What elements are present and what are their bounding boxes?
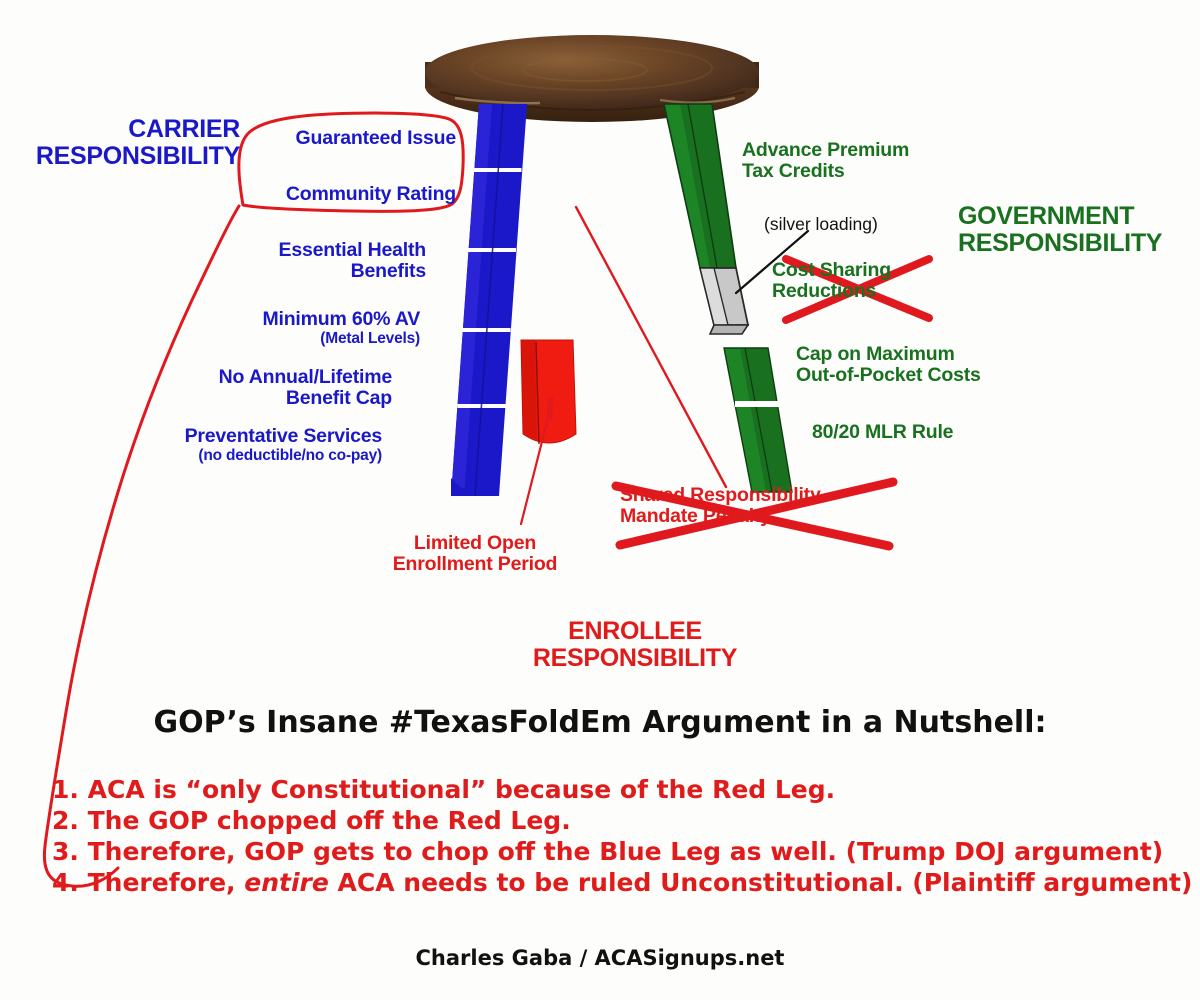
carrier-item-label: Preventative Services [130,426,382,447]
carrier-item-label: No Annual/Lifetime [150,367,392,388]
government-item-cap-on-max-oop: Cap on Maximum Out-of-Pocket Costs [796,344,1066,387]
carrier-heading-line1: CARRIER [12,116,240,143]
government-item-label-2: Reductions [772,281,1022,302]
carrier-heading-line2: RESPONSIBILITY [12,143,240,170]
argument-point-num: 3. [52,837,79,866]
carrier-item-guaranteed-issue: Guaranteed Issue [208,128,456,149]
silver-loading-note: (silver loading) [764,214,994,235]
argument-point-num: 2. [52,806,79,835]
page-title: GOP’s Insane #TexasFoldEm Argument in a … [154,705,1047,740]
government-item-cost-sharing-reductions: Cost Sharing Reductions [772,260,1022,303]
argument-point-emphasis: entire [244,868,329,897]
carrier-item-label: Community Rating [200,184,456,205]
enrollee-item-label-2: Mandate Penalty [620,506,920,527]
credit-wrap: Charles Gaba / ACASignups.net [0,946,1200,970]
argument-point-text: The GOP chopped off the Red Leg. [88,806,571,835]
argument-point-3: 3. Therefore, GOP gets to chop off the B… [52,837,1200,868]
government-item-label-2: Out-of-Pocket Costs [796,365,1066,386]
government-item-label: Cost Sharing [772,260,1022,281]
government-item-label-2: Tax Credits [742,161,1002,182]
carrier-item-label: Minimum 60% AV [176,309,420,330]
green-leg-upper-government [664,104,748,334]
argument-point-2: 2. The GOP chopped off the Red Leg. [52,806,1200,837]
infographic-canvas: CARRIER RESPONSIBILITY Guaranteed Issue … [0,0,1200,1000]
argument-point-text-after: ACA needs to be ruled Unconstitutional. … [329,868,1193,897]
government-item-label: Cap on Maximum [796,344,1066,365]
argument-point-text: Therefore, GOP gets to chop off the Blue… [88,837,1164,866]
carrier-item-label: Guaranteed Issue [208,128,456,149]
enrollee-heading: ENROLLEE RESPONSIBILITY [470,618,800,671]
carrier-item-label: Essential Health [182,240,426,261]
credit-line: Charles Gaba / ACASignups.net [416,946,785,970]
argument-list: 1. ACA is “only Constitutional” because … [52,775,1200,899]
government-item-advance-premium-tax-credits: Advance Premium Tax Credits [742,140,1002,183]
green-leg-lower-government [724,348,792,492]
argument-point-4: 4. Therefore, entire ACA needs to be rul… [52,868,1200,899]
argument-title-wrap: GOP’s Insane #TexasFoldEm Argument in a … [0,705,1200,740]
carrier-item-preventative-services: Preventative Services (no deductible/no … [130,426,382,464]
carrier-item-label-2: Benefit Cap [150,388,392,409]
argument-point-1: 1. ACA is “only Constitutional” because … [52,775,1200,806]
enrollee-heading-line2: RESPONSIBILITY [470,645,800,672]
government-heading: GOVERNMENT RESPONSIBILITY [958,203,1200,256]
enrollee-item-limited-open-enrollment: Limited Open Enrollment Period [370,533,580,576]
argument-point-num: 4. [52,868,79,897]
carrier-item-sub: (Metal Levels) [176,330,420,347]
carrier-heading: CARRIER RESPONSIBILITY [12,116,240,169]
silver-loading-block [700,268,748,334]
government-item-label: 80/20 MLR Rule [812,422,1052,443]
government-heading-line1: GOVERNMENT [958,203,1200,230]
enrollee-heading-line1: ENROLLEE [470,618,800,645]
carrier-item-minimum-av: Minimum 60% AV (Metal Levels) [176,309,420,347]
red-leg-stub-enrollee [521,340,576,444]
carrier-item-essential-health-benefits: Essential Health Benefits [182,240,426,283]
enrollee-item-shared-responsibility-mandate: Shared Responsibility Mandate Penalty [620,485,920,528]
carrier-item-community-rating: Community Rating [200,184,456,205]
carrier-item-label-2: Benefits [182,261,426,282]
government-item-mlr-rule: 80/20 MLR Rule [812,422,1052,443]
enrollee-item-label: Limited Open [370,533,580,554]
carrier-item-sub: (no deductible/no co-pay) [130,447,382,464]
government-heading-line2: RESPONSIBILITY [958,230,1200,257]
enrollee-item-label: Shared Responsibility [620,485,920,506]
argument-point-text: Therefore, [88,868,245,897]
argument-point-num: 1. [52,775,79,804]
annotation-lasso-blue-leg-items [44,113,463,886]
government-item-label: Advance Premium [742,140,1002,161]
enrollee-item-label-2: Enrollment Period [370,554,580,575]
argument-point-text: ACA is “only Constitutional” because of … [88,775,836,804]
carrier-item-no-annual-lifetime-cap: No Annual/Lifetime Benefit Cap [150,367,392,410]
